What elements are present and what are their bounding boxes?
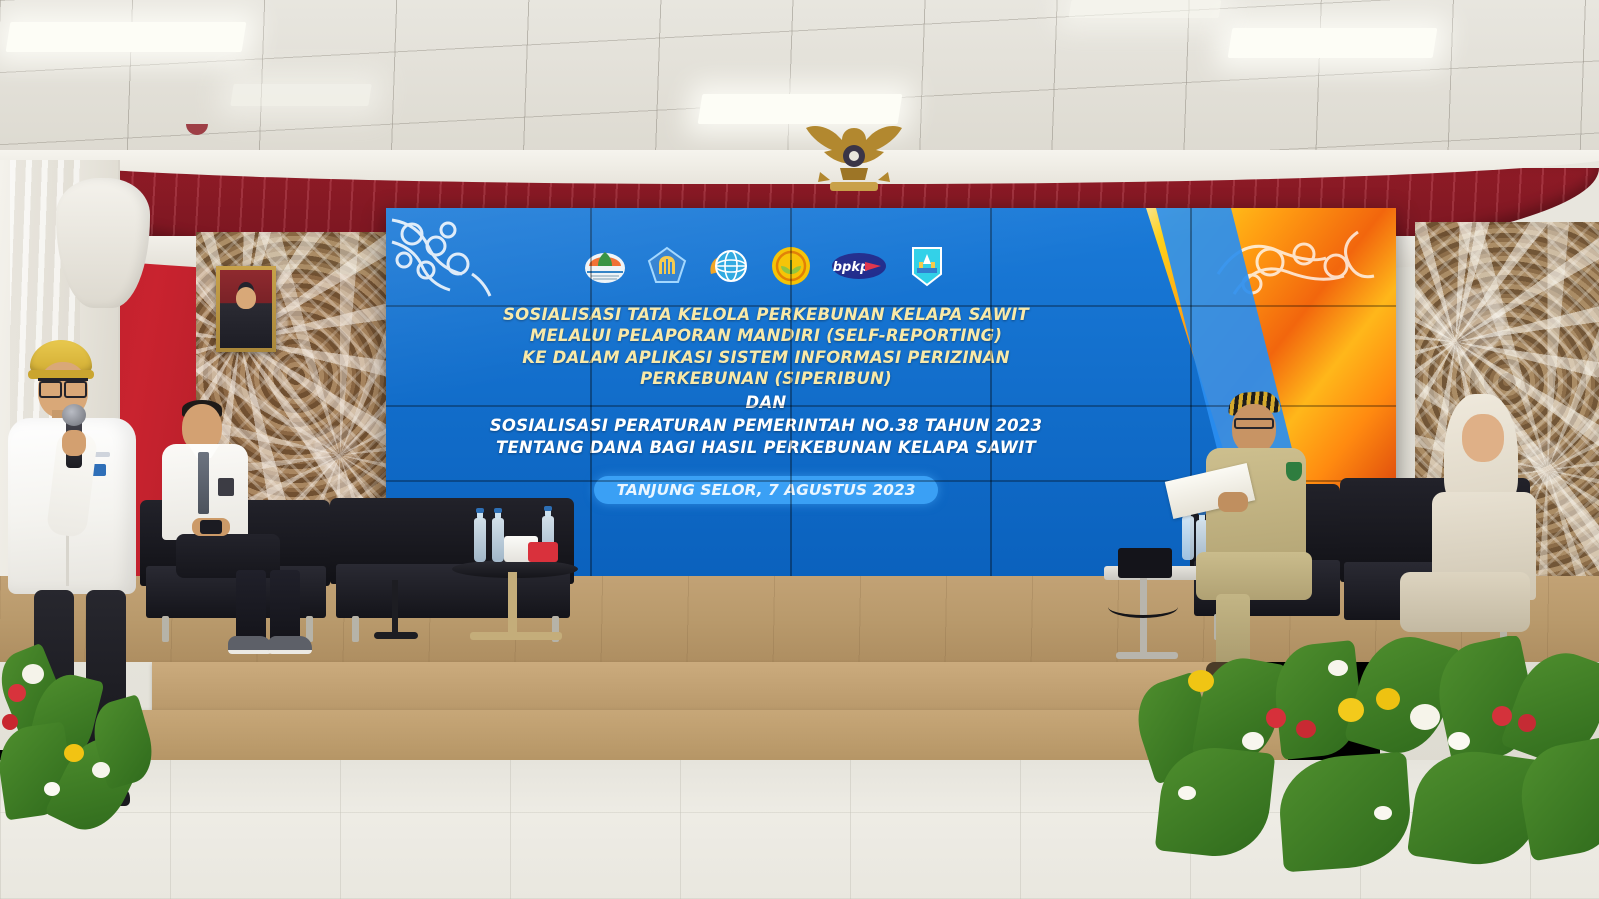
yellow-flower (1188, 670, 1214, 692)
title-line-4: PERKEBUNAN (SIPERIBUN) (490, 368, 1042, 389)
logo-bpkp-icon: bpkp (831, 244, 887, 288)
red-flower (1492, 706, 1512, 726)
lap-trousers (1196, 552, 1312, 600)
white-flower (44, 782, 60, 796)
white-flower (1328, 660, 1348, 676)
stage-step-lower (128, 710, 1288, 762)
title-line-6: TENTANG DANA BAGI HASIL PERKEBUNAN KELAP… (490, 437, 1042, 458)
ceiling-light-panel (6, 22, 247, 52)
microphone-stand[interactable] (392, 580, 398, 636)
bottle-cap (544, 506, 552, 511)
title-line-1: SOSIALISASI TATA KELOLA PERKEBUNAN KELAP… (490, 304, 1042, 325)
svg-text:bpkp: bpkp (833, 260, 870, 275)
eyeglasses (1234, 418, 1274, 429)
mobile-phone[interactable] (200, 520, 222, 534)
red-flower (2, 714, 18, 730)
title-line-conjunction: DAN (490, 392, 1042, 413)
white-flower (1178, 786, 1196, 800)
white-flower (1242, 732, 1264, 750)
white-flower (1448, 732, 1470, 750)
videowall-title-block: SOSIALISASI TATA KELOLA PERKEBUNAN KELAP… (490, 304, 1042, 458)
face (1462, 414, 1504, 462)
table-base (470, 632, 562, 640)
yellow-flower (1376, 688, 1400, 710)
bottle-cap (494, 508, 502, 513)
logo-globe-kemendagri-icon (707, 244, 751, 288)
shoe (268, 636, 312, 654)
foliage-leaf (1513, 737, 1599, 862)
hand (1218, 492, 1248, 512)
title-line-2: MELALUI PELAPORAN MANDIRI (SELF-REPORTIN… (490, 325, 1042, 346)
microphone-head (62, 404, 86, 426)
logo-kementerian-keuangan-icon (645, 244, 689, 288)
yellow-flower (1338, 698, 1364, 722)
necktie (198, 452, 209, 514)
red-flower (1518, 714, 1536, 732)
garuda-pancasila-emblem (800, 112, 908, 198)
logo-ditjen-perkebunan-icon (769, 244, 813, 288)
ceiling-light-panel (230, 84, 371, 106)
shin (236, 570, 266, 642)
red-flower (1296, 720, 1316, 738)
white-flower (1410, 704, 1440, 730)
yellow-flower (64, 744, 84, 762)
lap (1400, 572, 1530, 632)
white-flower (92, 762, 110, 778)
title-line-5: SOSIALISASI PERATURAN PEMERINTAH NO.38 T… (490, 415, 1042, 436)
presidential-portrait-frame (216, 266, 276, 352)
foliage-leaf (1276, 752, 1413, 873)
table-stem (508, 572, 517, 638)
logo-kementerian-pertanian-icon (583, 244, 627, 288)
audio-cable (1108, 596, 1178, 618)
uniform-emblem (1286, 462, 1302, 481)
water-bottle[interactable] (474, 518, 486, 562)
white-flower (1374, 806, 1392, 820)
ceiling-light-panel (1069, 0, 1222, 18)
floral-arrangement-right (1130, 636, 1599, 886)
eyeglasses (38, 378, 88, 391)
title-line-3: KE DALAM APLIKASI SISTEM INFORMASI PERIZ… (490, 347, 1042, 368)
ceiling-light-panel (1228, 28, 1438, 58)
shin (270, 570, 300, 642)
head (1232, 404, 1276, 454)
logo-pemprov-kaltara-icon (905, 244, 949, 288)
hand (62, 430, 86, 456)
shirt-pocket (218, 478, 234, 496)
event-date-badge: TANJUNG SELOR, 7 AGUSTUS 2023 (594, 476, 937, 504)
portrait-photo (220, 270, 272, 348)
microphone-stand-base (374, 632, 418, 639)
tissue-box-lid (528, 542, 558, 562)
bottle-cap (476, 508, 484, 513)
sofa-leg (352, 616, 359, 642)
water-bottle[interactable] (1182, 516, 1194, 560)
white-flower (22, 664, 44, 684)
auditorium-scene: bpkp SOSIALISASI TATA KELOLA PERKEBUNAN … (0, 0, 1599, 899)
red-flower (8, 684, 26, 702)
sofa-leg (162, 616, 169, 642)
stage-step-upper (152, 662, 1262, 710)
red-flower (1266, 708, 1286, 728)
floral-arrangement-left (0, 640, 180, 870)
floor-monitor-speaker (1118, 548, 1172, 578)
shoe (228, 636, 272, 654)
ministry-logo-row: bpkp (583, 242, 949, 290)
water-bottle[interactable] (492, 518, 504, 562)
